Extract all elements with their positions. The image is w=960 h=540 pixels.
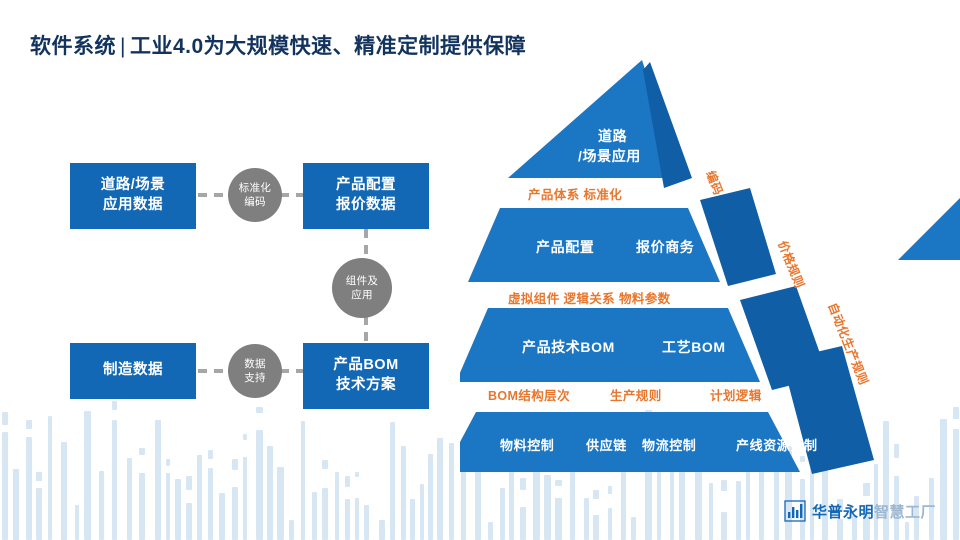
- pyramid-layer4-label-3: 物流控制: [642, 435, 696, 454]
- pyramid-layer4-label-1: 物料控制: [500, 435, 554, 454]
- pyramid-gap-label-3c: 计划逻辑: [710, 385, 762, 404]
- page-title-main: 软件系统: [30, 35, 116, 58]
- page-title-separator: |: [116, 35, 130, 58]
- pyramid-layer3-label-1: 产品技术BOM: [522, 337, 615, 357]
- pyramid-gap-label-1: 产品体系 标准化: [528, 184, 622, 203]
- logo-brand: 华普永明: [812, 504, 874, 521]
- background-bar: [721, 512, 727, 540]
- pyramid-gap-label-2: 虚拟组件 逻辑关系 物料参数: [508, 288, 671, 307]
- flow-box-product-bom-tech-plan[interactable]: 产品BOM 技术方案: [303, 343, 429, 409]
- pyramid-shapes: [460, 60, 960, 490]
- background-bar-segment: [593, 490, 599, 499]
- background-bar: [520, 507, 526, 540]
- flow-box-product-line1: 产品配置: [336, 176, 396, 196]
- flow-circle-std-line2: 编码: [244, 195, 266, 209]
- pyramid-gap-label-3a: BOM结构层次: [488, 385, 570, 404]
- background-bar: [593, 515, 599, 540]
- flow-box-bom-line1: 产品BOM: [333, 356, 398, 376]
- connector-data-to-bom: [280, 369, 305, 373]
- connector-product-to-comp: [364, 229, 368, 261]
- pyramid-layer4-label-2: 供应链: [586, 435, 627, 454]
- flow-diagram: 道路/场景 应用数据 产品配置 报价数据 制造数据 产品BOM 技术方案 标准化…: [0, 0, 470, 540]
- background-bar: [837, 519, 843, 540]
- connector-std-to-product: [280, 193, 305, 197]
- flow-circle-data-line1: 数据: [244, 357, 266, 371]
- flow-box-road-line1: 道路/场景: [101, 176, 166, 196]
- flow-box-product-line2: 报价数据: [336, 196, 396, 216]
- flow-circle-data-support[interactable]: 数据 支持: [228, 344, 282, 398]
- flow-box-mfg-line1: 制造数据: [103, 361, 163, 381]
- background-bar: [555, 498, 562, 540]
- background-bar: [709, 483, 713, 540]
- background-bar: [500, 488, 505, 540]
- flow-circle-standardization-coding[interactable]: 标准化 编码: [228, 168, 282, 222]
- connector-mfg-to-data: [198, 369, 230, 373]
- connector-comp-to-bom: [364, 316, 368, 345]
- pyramid-layer2-label-2: 报价商务: [636, 237, 694, 257]
- logo-mark-icon: [784, 500, 806, 522]
- flow-box-bom-line2: 技术方案: [336, 376, 396, 396]
- page-title-rest: 工业4.0为大规模快速、精准定制提供保障: [130, 35, 526, 58]
- background-bar: [488, 522, 493, 540]
- pyramid-apex-label-2: /场景应用: [578, 146, 641, 166]
- flow-circle-component-application[interactable]: 组件及 应用: [332, 258, 392, 318]
- background-bar: [905, 522, 909, 540]
- background-bar: [584, 498, 589, 540]
- logo-suffix: 智慧工厂: [874, 504, 936, 521]
- pyramid-apex-label-1: 道路: [598, 126, 627, 146]
- flow-circle-std-line1: 标准化: [239, 181, 271, 195]
- flow-circle-data-line2: 支持: [244, 371, 266, 385]
- flow-box-road-scene-data[interactable]: 道路/场景 应用数据: [70, 163, 196, 229]
- pyramid-diagram: 道路 /场景应用 产品体系 标准化 产品配置 报价商务 虚拟组件 逻辑关系 物料…: [460, 60, 960, 490]
- brand-logo: 华普永明智慧工厂: [784, 500, 936, 522]
- pyramid-layer3-label-2: 工艺BOM: [662, 337, 726, 357]
- pyramid-layer4-label-4: 产线资源控制: [736, 435, 818, 454]
- flow-circle-comp-line1: 组件及: [346, 274, 378, 288]
- flow-box-product-config-quote-data[interactable]: 产品配置 报价数据: [303, 163, 429, 229]
- pyramid-layer2-label-1: 产品配置: [536, 237, 594, 257]
- flow-box-manufacturing-data[interactable]: 制造数据: [70, 343, 196, 399]
- flow-circle-comp-line2: 应用: [351, 288, 373, 302]
- pyramid-gap-label-3b: 生产规则: [610, 385, 662, 404]
- logo-text: 华普永明智慧工厂: [812, 501, 936, 522]
- flow-box-road-line2: 应用数据: [103, 196, 163, 216]
- background-bar: [608, 508, 612, 540]
- background-bar: [631, 517, 636, 540]
- page-title: 软件系统|工业4.0为大规模快速、精准定制提供保障: [30, 30, 526, 60]
- connector-road-to-std: [198, 193, 230, 197]
